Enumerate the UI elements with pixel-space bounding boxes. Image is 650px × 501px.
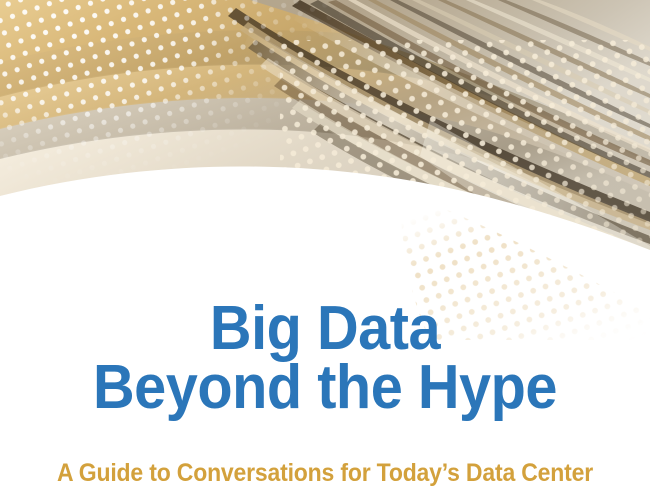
book-cover: Big Data Beyond the Hype A Guide to Conv… <box>0 0 650 501</box>
cover-title-block: Big Data Beyond the Hype <box>0 300 650 416</box>
halftone-dots-upper-left <box>0 0 360 210</box>
cover-subtitle: A Guide to Conversations for Today’s Dat… <box>26 459 624 488</box>
cover-title-line-1: Big Data <box>23 300 628 357</box>
abstract-gold-bronze-swoosh-artwork <box>0 0 650 340</box>
artwork-svg <box>0 0 650 340</box>
artwork-ribbons <box>0 0 650 300</box>
cover-title-line-2: Beyond the Hype <box>23 359 628 416</box>
